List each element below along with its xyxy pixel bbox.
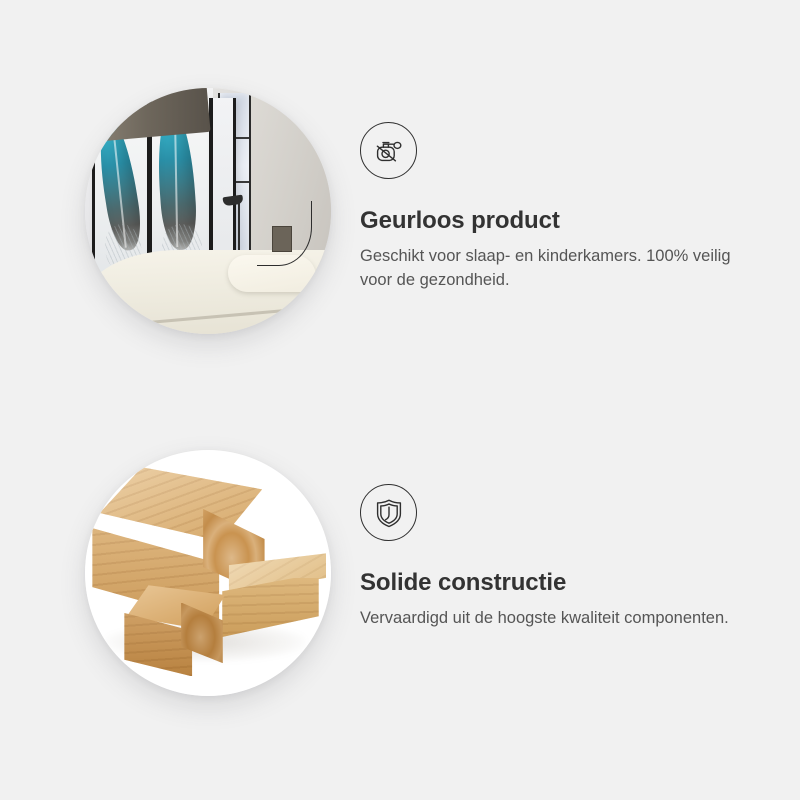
picture-frame xyxy=(272,226,291,253)
product-feature-page: Geurloos product Geschikt voor slaap- en… xyxy=(0,0,800,800)
feature-title: Geurloos product xyxy=(360,207,760,235)
feature-description: Geschikt voor slaap- en kinderkamers. 10… xyxy=(360,244,752,293)
no-fragrance-icon xyxy=(360,122,417,179)
feature-text-odourless: Geurloos product Geschikt voor slaap- en… xyxy=(360,122,760,292)
art-panel-right xyxy=(210,98,236,275)
feature-block-solid-construction: Solide constructie Vervaardigd uit de ho… xyxy=(0,412,800,722)
bed xyxy=(85,250,331,334)
feature-image-wooden-blocks xyxy=(85,450,331,696)
feature-image-feather-wall-art xyxy=(85,88,331,334)
feature-block-odourless: Geurloos product Geschikt voor slaap- en… xyxy=(0,60,800,370)
shield-icon xyxy=(360,484,417,541)
lamp-arm xyxy=(238,196,240,250)
feature-title: Solide constructie xyxy=(360,569,760,597)
wooden-blocks-scene xyxy=(85,450,331,696)
feature-description: Vervaardigd uit de hoogste kwaliteit com… xyxy=(360,606,752,630)
duvet-fold xyxy=(100,307,311,328)
feature-text-solid-construction: Solide constructie Vervaardigd uit de ho… xyxy=(360,484,760,630)
bedroom-scene xyxy=(85,88,331,334)
